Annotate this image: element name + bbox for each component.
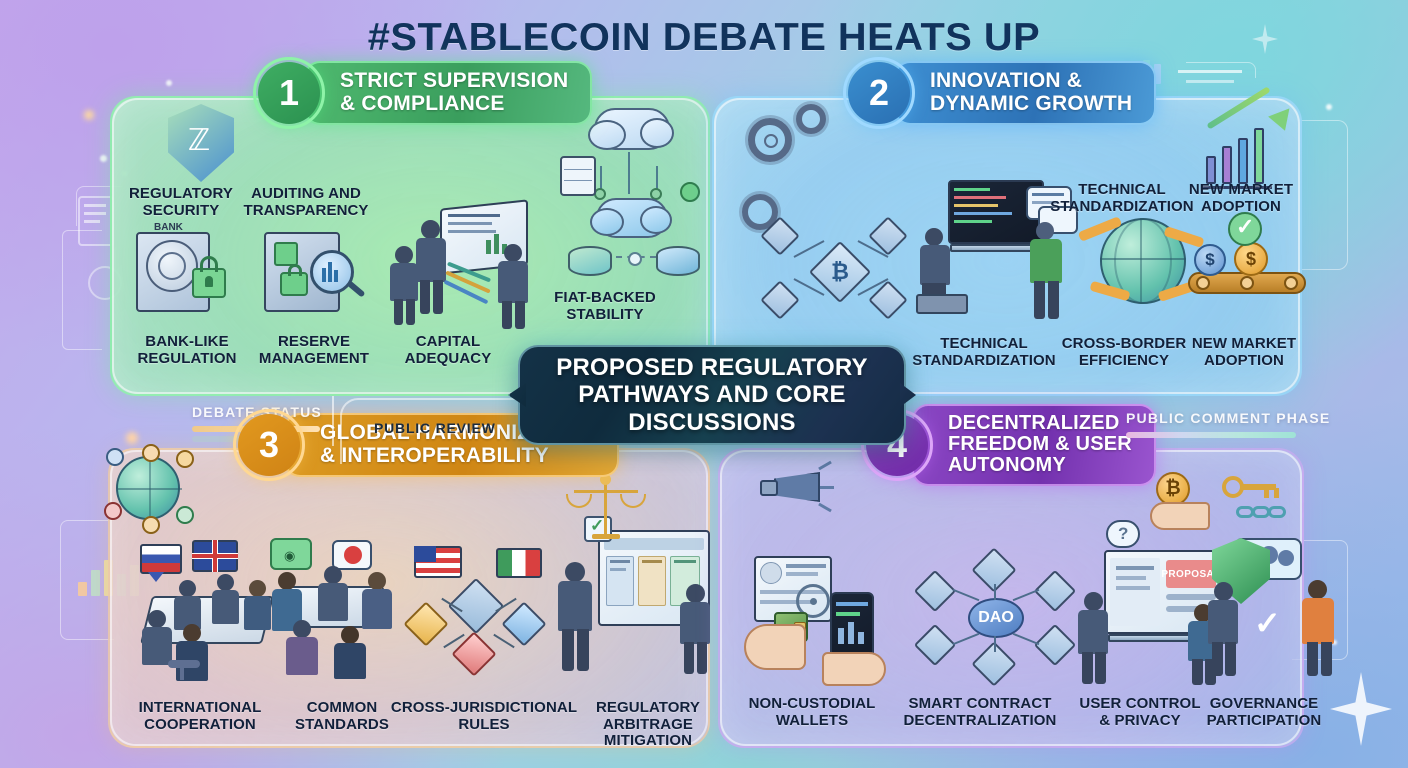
quadrant-1-header[interactable]: 1 STRICT SUPERVISION & COMPLIANCE [258,64,592,122]
bank-vault-lock-icon: BANK [130,224,240,320]
quadrant-2-header[interactable]: 2 INNOVATION & DYNAMIC GROWTH [848,64,1156,122]
cloud-database-network-icon [552,104,708,294]
q2-item-label-1: CROSS-BORDER EFFICIENCY [1048,336,1200,369]
public-comment-phase-label: PUBLIC COMMENT PHASE [1126,410,1330,426]
q3-item-label-3: REGULATORY ARBITRAGE MITIGATION [580,700,716,750]
russia-flag-icon [140,544,182,574]
quadrant-4-title: DECENTRALIZED FREEDOM & USER AUTONOMY [912,404,1156,486]
quadrant-4-panel: DAO PROPOSAL ? [718,448,1304,748]
page-title: #STABLECOIN DEBATE HEATS UP [0,16,1408,60]
q1-item-label-2: CAPITAL ADEQUACY [384,334,512,367]
center-badge: PROPOSED REGULATORY PATHWAYS AND CORE DI… [518,345,906,445]
quadrant-4-title-line1: DECENTRALIZED [948,412,1120,434]
quadrant-1-number: 1 [258,62,320,124]
quadrant-1-title: STRICT SUPERVISION & COMPLIANCE [304,61,592,124]
quadrant-1-title-line2: & COMPLIANCE [340,92,505,115]
public-review-label: PUBLIC REVIEW [374,420,496,436]
q3-item-label-2: CROSS-JURISDICTIONAL RULES [378,700,590,733]
globe-arrows-icon [1078,202,1206,324]
safe-magnifier-icon [260,226,378,322]
q4-item-label-2: USER CONTROL & PRIVACY [1072,696,1208,729]
italy-flag-icon [496,548,542,578]
quadrant-1-title-line1: STRICT SUPERVISION [340,69,568,92]
public-comment-phase-widget: PUBLIC COMMENT PHASE [1126,410,1330,438]
q4-item-label-0: NON-CUSTODIAL WALLETS [740,696,884,729]
infographic-canvas: #STABLECOIN DEBATE HEATS UP BANK [0,0,1408,768]
flag-chain-blocks-icon [404,546,560,676]
center-line-2: PATHWAYS AND CORE [578,381,845,408]
hands-phone-wallet-icon [738,556,906,682]
quadrant-3-number: 3 [238,414,300,476]
q1-top-label-1: AUDITING AND TRANSPARENCY [232,186,380,219]
dao-node-graph-icon: DAO [916,554,1076,684]
q3-item-label-0: INTERNATIONAL COOPERATION [120,700,280,733]
quadrant-3-panel: ◉ [108,448,710,748]
megaphone-icon [758,460,834,520]
global-network-globe-icon [116,456,180,520]
quadrant-4-title-line3: AUTONOMY [948,454,1066,476]
quadrant-4-title-line2: FREEDOM & USER [948,433,1132,455]
quadrant-2-title-line2: DYNAMIC GROWTH [930,92,1132,115]
center-line-1: PROPOSED REGULATORY [556,354,867,381]
coin-conveyor-icon: $ $ ✓ [1188,228,1308,324]
q2-top-label-1: NEW MARKET ADOPTION [1176,182,1306,215]
quadrant-4-header[interactable]: 4 DECENTRALIZED FREEDOM & USER AUTONOMY [866,416,1156,474]
quadrant-2-title: INNOVATION & DYNAMIC GROWTH [894,61,1156,124]
q1-item-label-1: RESERVE MANAGEMENT [248,334,380,367]
q1-item-label-0: BANK-LIKE REGULATION [122,334,252,367]
blockchain-nodes-icon: ₿ [762,216,912,326]
delegates-flags-table-icon [124,540,284,680]
quadrant-2-title-line1: INNOVATION & [930,69,1082,92]
hand-coin-key-chain-icon: ₿ [1150,462,1320,536]
meeting-speech-bubbles-icon: ◉ [262,538,408,678]
scales-of-justice-icon [562,474,650,550]
q4-item-label-1: SMART CONTRACT DECENTRALIZATION [890,696,1070,729]
divider-line [332,396,334,446]
q2-item-label-2: NEW MARKET ADOPTION [1180,336,1308,369]
q1-top-label-0: REGULATORY SECURITY [126,186,236,219]
center-line-3: DISCUSSIONS [628,409,796,436]
public-comment-phase-bar [1126,432,1296,438]
q2-item-label-0: TECHNICAL STANDARDIZATION [900,336,1068,369]
quadrant-2-number: 2 [848,62,910,124]
q4-item-label-3: GOVERNANCE PARTICIPATION [1194,696,1334,729]
center-badge-text: PROPOSED REGULATORY PATHWAYS AND CORE DI… [556,354,867,436]
gear-icon [792,100,836,144]
people-shield-check-icon: ✓ [1212,538,1342,686]
q1-item-label-3: FIAT-BACKED STABILITY [530,290,680,323]
